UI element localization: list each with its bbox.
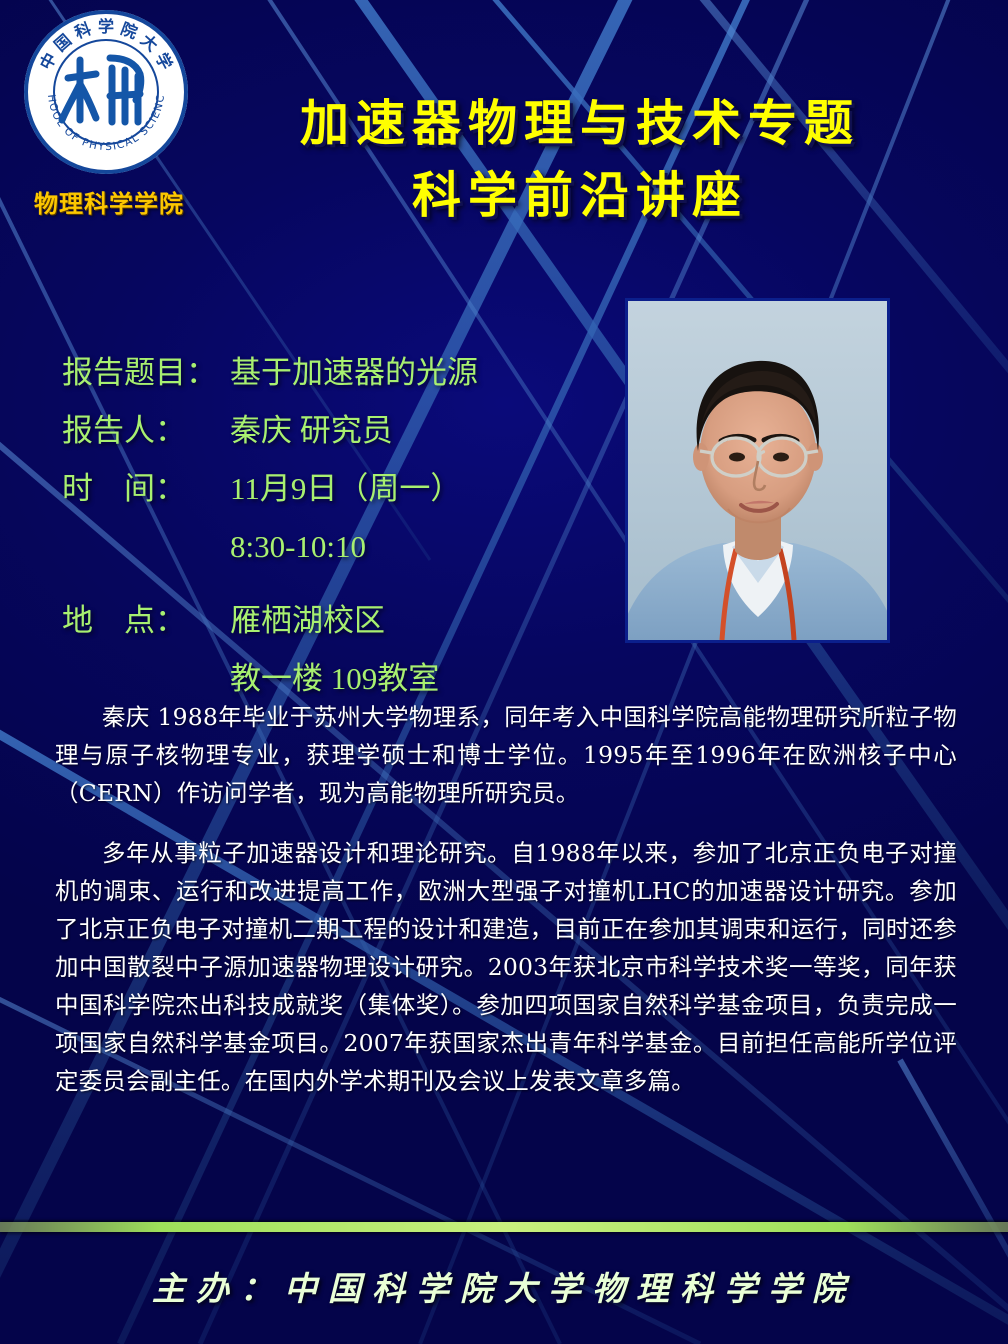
logo-caption-label: 物理科学学院 xyxy=(14,184,204,219)
detail-label-topic: 报告题目： xyxy=(62,344,230,402)
institution-logo: 中 国 科 学 院 大 学 SCHOOL OF PHYSICAL SCIENCE… xyxy=(14,8,196,220)
speaker-biography: 秦庆 1988年毕业于苏州大学物理系，同年考入中国科学院高能物理研究所粒子物理与… xyxy=(55,698,957,1100)
detail-label-speaker: 报告人： xyxy=(62,402,230,460)
detail-value-venue: 雁栖湖校区 xyxy=(230,592,622,650)
detail-row-date: 时 间： 11月9日（周一） xyxy=(62,460,622,518)
title-line-1: 加速器物理与技术专题 xyxy=(210,88,950,160)
detail-row-speaker: 报告人： 秦庆 研究员 xyxy=(62,402,622,460)
detail-value-time: 8:30-10:10 xyxy=(230,518,622,576)
bio-paragraph-2: 多年从事粒子加速器设计和理论研究。自1988年以来，参加了北京正负电子对撞机的调… xyxy=(55,834,957,1100)
bio-paragraph-1: 秦庆 1988年毕业于苏州大学物理系，同年考入中国科学院高能物理研究所粒子物理与… xyxy=(55,698,957,812)
detail-row-time: 8:30-10:10 xyxy=(62,518,622,576)
ucas-sps-emblem-icon: 中 国 科 学 院 大 学 SCHOOL OF PHYSICAL SCIENCE… xyxy=(22,8,190,176)
talk-details: 报告题目： 基于加速器的光源 报告人： 秦庆 研究员 时 间： 11月9日（周一… xyxy=(62,344,622,708)
detail-spacer xyxy=(62,576,622,592)
organizer-footer: 主办：中国科学院大学物理科学学院 xyxy=(0,1262,1008,1310)
detail-row-topic: 报告题目： 基于加速器的光源 xyxy=(62,344,622,402)
detail-label-venue: 地 点： xyxy=(62,592,230,650)
detail-value-speaker: 秦庆 研究员 xyxy=(230,402,622,460)
detail-label-time xyxy=(62,518,230,576)
detail-value-topic: 基于加速器的光源 xyxy=(230,344,622,402)
detail-row-venue: 地 点： 雁栖湖校区 xyxy=(62,592,622,650)
detail-label-date: 时 间： xyxy=(62,460,230,518)
speaker-photo xyxy=(625,298,890,643)
title-line-2: 科学前沿讲座 xyxy=(210,160,950,232)
poster-title: 加速器物理与技术专题 科学前沿讲座 xyxy=(210,88,950,232)
footer-divider xyxy=(0,1222,1008,1232)
detail-value-date: 11月9日（周一） xyxy=(230,460,622,518)
seminar-poster: 中 国 科 学 院 大 学 SCHOOL OF PHYSICAL SCIENCE… xyxy=(0,0,1008,1344)
